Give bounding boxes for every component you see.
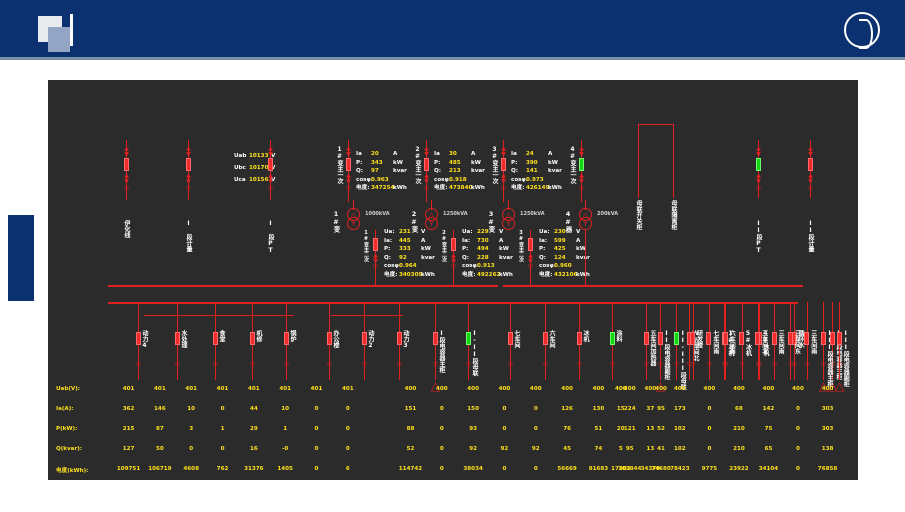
table-row-label-4: 电度(kWh): — [56, 466, 88, 474]
tf-sec-meas-1-ia: Ia:730A — [462, 237, 513, 246]
sidebar-tab-platform-page[interactable] — [8, 215, 34, 301]
lv-feeder-drop-b-0 — [660, 320, 661, 380]
lv-busbar-I — [108, 285, 498, 287]
lv-riser-b-3 — [709, 302, 710, 320]
lv-feeder-breaker-a-12[interactable] — [577, 332, 582, 345]
hv-feeder-meas-2-p: P:390kW — [511, 159, 562, 168]
table-cell-g1-r1-c4: 0 — [523, 406, 549, 412]
table-cell-g2-r1-c4: 68 — [726, 406, 752, 412]
table-cell-g2-r0-c0: 400 — [608, 386, 634, 392]
table-cell-g0-r1-c5: 10 — [272, 406, 298, 412]
lv-feeder-drop-b-6 — [758, 320, 759, 380]
hv-feeder-meas-2-ia: Ia24A — [511, 150, 562, 159]
lv-busbar-main — [108, 302, 798, 304]
table-cell-g0-r4-c2: 4608 — [178, 466, 204, 472]
lv-feeder-breaker-b-3[interactable] — [706, 332, 711, 345]
table-cell-g0-r0-c3: 401 — [210, 386, 236, 392]
table-cell-g1-r2-c1: 0 — [429, 426, 455, 432]
table-cell-g2-r4-c5: 34104 — [755, 466, 781, 472]
lv-feeder-drop-a-12 — [579, 320, 580, 380]
lv-riser-b-10 — [823, 302, 824, 320]
isolator-icon[interactable]: ▲▼ — [422, 173, 431, 184]
transformer-tag-2: 3#变 — [486, 210, 496, 233]
lv-feeder-drop-b-4 — [725, 320, 726, 380]
lv-feeder-label-b-6: 三车间北 — [761, 330, 767, 354]
ct-icon-b-3: ▽ — [705, 362, 714, 369]
isolator-icon[interactable]: ▲▼ — [344, 173, 353, 184]
tf-sec-name-2: 3#变主二次 — [518, 230, 523, 262]
ct-icon-b-8: ▽ — [786, 362, 795, 369]
lv-feeder-breaker-a-10[interactable] — [508, 332, 513, 345]
lv-feeder-drop-a-9 — [468, 320, 469, 380]
hv-feeder-breaker-3[interactable] — [579, 158, 584, 171]
table-cell-g2-r3-c1: 13 — [637, 446, 663, 452]
table-cell-g0-r2-c2: 3 — [178, 426, 204, 432]
bus-tie-link — [638, 124, 674, 125]
isolator-icon[interactable]: ▲▼ — [499, 146, 508, 157]
lv-feeder-drop-a-5 — [329, 320, 330, 380]
ct-icon-a-6: ▽ — [360, 362, 369, 369]
hv-feeder-meas-2: Ia24AP:390kWQ:141kvarcosφ:0.973电度:426149… — [511, 150, 562, 193]
tf-sec-meas-1-cos: cosφ:0.913 — [462, 262, 513, 271]
isolator-icon[interactable]: ▲▼ — [266, 173, 275, 184]
lv-feeder-drop-b-7 — [774, 320, 775, 380]
lv-feeder-label-a-14: 五车间加热器 — [649, 330, 655, 366]
table-cell-g0-r1-c4: 44 — [241, 406, 267, 412]
table-cell-g0-r4-c3: 762 — [210, 466, 236, 472]
table-cell-g2-r2-c2: 102 — [667, 426, 693, 432]
lv-riser-a-17 — [759, 302, 760, 320]
isolator-icon[interactable]: ▲▼ — [344, 146, 353, 157]
hv-breaker-1[interactable] — [186, 158, 191, 171]
lv-feeder-drop-b-2 — [693, 320, 694, 380]
ground-icon: ▽ — [266, 186, 275, 193]
tf-sec-breaker-0[interactable] — [373, 238, 378, 251]
table-cell-g2-r3-c5: 65 — [755, 446, 781, 452]
tf-sec-breaker-1[interactable] — [451, 238, 456, 251]
lv-feeder-drop-b-10 — [823, 320, 824, 380]
table-cell-g0-r1-c7: 0 — [335, 406, 361, 412]
table-cell-g2-r4-c6: 0 — [785, 466, 811, 472]
lv-riser-a-19 — [832, 302, 833, 320]
ground-icon: ▽ — [122, 186, 131, 193]
table-cell-g1-r4-c5: 56669 — [554, 466, 580, 472]
hv-feeder-breaker-2[interactable] — [501, 158, 506, 171]
table-cell-g2-r1-c7: 303 — [815, 406, 841, 412]
hv-feeder-label-2: 3#变主一次 — [491, 146, 497, 184]
lv-feeder-label-a-12: 冰机 — [582, 330, 588, 342]
table-cell-g2-r3-c2: 102 — [667, 446, 693, 452]
table-cell-g0-r0-c5: 401 — [272, 386, 298, 392]
ct-icon-a-11: ▽ — [541, 362, 550, 369]
table-cell-g2-r0-c3: 400 — [696, 386, 722, 392]
ct-icon-a-7: ▽ — [395, 362, 404, 369]
table-cell-g2-r0-c5: 400 — [755, 386, 781, 392]
transformer-tag-3: 4#器 — [563, 210, 573, 233]
transformer-winding-lv-0: Y — [347, 217, 360, 230]
hv-feeder-meas-1-q: Q:213kvar — [434, 167, 485, 176]
table-cell-g1-r4-c2: 38034 — [460, 466, 486, 472]
table-cell-g1-r2-c3: 0 — [491, 426, 517, 432]
transformer-rating-3: 200kVA — [597, 211, 618, 217]
lv-riser-a-11 — [545, 302, 546, 320]
lv-feeder-label-b-4: 六车间南 — [728, 330, 734, 354]
ground-icon: ▽ — [371, 264, 380, 271]
lv-feeder-label-a-4: 锅炉 — [289, 330, 295, 342]
transformer-lead-1 — [431, 200, 432, 210]
transformer-tag-1: 2#变 — [409, 210, 419, 233]
lv-feeder-breaker-a-5[interactable] — [327, 332, 332, 345]
lv-riser-a-1 — [177, 302, 178, 320]
lv-feeder-label-a-7: 动力3 — [402, 330, 408, 349]
hv-feeder-meas-2-cos: cosφ:0.973 — [511, 176, 562, 185]
lv-feeder-drop-a-7 — [399, 320, 400, 380]
hv-cabinet-right-2: II段PT — [755, 220, 761, 254]
lv-riser-a-12 — [579, 302, 580, 320]
lv-feeder-drop-a-4 — [286, 320, 287, 380]
bus-tie-v1 — [638, 124, 639, 141]
table-cell-g1-r1-c3: 0 — [491, 406, 517, 412]
table-cell-g2-r2-c5: 75 — [755, 426, 781, 432]
hv-right-breaker-3[interactable] — [808, 158, 813, 171]
table-cell-g1-r1-c2: 150 — [460, 406, 486, 412]
table-cell-g0-r4-c4: 31376 — [241, 466, 267, 472]
table-cell-g1-r2-c4: 0 — [523, 426, 549, 432]
lv-feeder-label-b-5: 5#冰机 — [745, 330, 751, 356]
table-cell-g1-r1-c5: 126 — [554, 406, 580, 412]
hv-cabinet-right-3: II段计量 — [807, 220, 813, 252]
table-cell-g1-r3-c3: 92 — [491, 446, 517, 452]
hv-breaker-0[interactable] — [124, 158, 129, 171]
table-cell-g1-r0-c0: 400 — [397, 386, 423, 392]
hv-feeder-meas-0-电度: 电度:347254kWh — [356, 184, 407, 193]
table-cell-g0-r1-c1: 146 — [147, 406, 173, 412]
table-cell-g0-r2-c0: 215 — [116, 426, 142, 432]
hv-feeder-meas-2-电度: 电度:426149kWh — [511, 184, 562, 193]
lv-feeder-label-b-0: II段电容器副柜 — [663, 330, 669, 380]
tf-sec-meas-1: Ua:229VIa:730AP:494kWQ:228kvarcosφ:0.913… — [462, 228, 513, 279]
table-cell-g2-r2-c4: 210 — [726, 426, 752, 432]
table-cell-g0-r3-c3: 0 — [210, 446, 236, 452]
lv-feeder-breaker-a-4[interactable] — [284, 332, 289, 345]
hv-feeder-breaker-1[interactable] — [424, 158, 429, 171]
lv-feeder-breaker-a-6[interactable] — [362, 332, 367, 345]
isolator-icon[interactable]: ▲▼ — [122, 146, 131, 157]
table-cell-g1-r4-c1: 0 — [429, 466, 455, 472]
lv-riser-b-6 — [758, 302, 759, 320]
isolator-icon[interactable]: ▲▼ — [499, 173, 508, 184]
lv-feeder-drop-a-6 — [364, 320, 365, 380]
transformer-rating-2: 1250kVA — [520, 211, 545, 217]
table-cell-g2-r1-c2: 173 — [667, 406, 693, 412]
lv-feeder-label-b-7: 三车间南 — [777, 330, 783, 354]
lv-feeder-drop-b-5 — [742, 320, 743, 380]
table-row-label-2: P(kW): — [56, 426, 77, 432]
table-cell-g0-r3-c0: 127 — [116, 446, 142, 452]
lv-feeder-breaker-a-3[interactable] — [250, 332, 255, 345]
lv-feeder-label-a-8: I段电容器主柜 — [438, 330, 444, 373]
lv-feeder-drop-a-14 — [646, 320, 647, 380]
table-cell-g1-r4-c0: 114742 — [397, 466, 423, 472]
isolator-icon[interactable]: ▲▼ — [806, 173, 815, 184]
hv-right-breaker-2[interactable] — [756, 158, 761, 171]
lv-feeder-drop-b-3 — [709, 320, 710, 380]
ct-icon-a-1: ▽ — [173, 362, 182, 369]
lv-feeder-drop-a-8 — [435, 320, 436, 380]
table-cell-g1-r1-c0: 151 — [397, 406, 423, 412]
table-cell-g1-r0-c4: 400 — [523, 386, 549, 392]
table-cell-g1-r0-c3: 400 — [491, 386, 517, 392]
lv-feeder-breaker-a-8[interactable] — [433, 332, 438, 345]
bus-tie-v2 — [673, 124, 674, 141]
lv-riser-a-0 — [138, 302, 139, 320]
hv-feeder-meas-0-cos: cosφ:0.963 — [356, 176, 407, 185]
hv-cabinet-0: 伊化线 — [123, 220, 129, 238]
transformer-lead-3 — [585, 200, 586, 210]
brand-logo — [844, 10, 887, 50]
lv-feeder-label-b-2: 研发楼 — [696, 330, 702, 348]
table-cell-g2-r0-c1: 400 — [637, 386, 663, 392]
lv-feeder-label-a-5: 办公楼 — [332, 330, 338, 348]
table-cell-g0-r1-c0: 362 — [116, 406, 142, 412]
hv-feeder-meas-1-电度: 电度:473840kWh — [434, 184, 485, 193]
lv-feeder-label-b-8: 三车间东 — [793, 330, 799, 354]
table-cell-g2-r1-c0: 15 — [608, 406, 634, 412]
table-cell-g2-r1-c5: 142 — [755, 406, 781, 412]
hv-feeder-meas-2-q: Q:141kvar — [511, 167, 562, 176]
hv-feeder-meas-0: Ia20AP:343kWQ:97kvarcosφ:0.963电度:347254k… — [356, 150, 407, 193]
transformer-tag-0: 1#变 — [331, 210, 341, 233]
ground-icon: ▽ — [577, 186, 586, 193]
table-cell-g0-r4-c6: 0 — [304, 466, 330, 472]
table-cell-g2-r4-c0: 17303 — [608, 466, 634, 472]
isolator-icon[interactable]: ▲▼ — [184, 173, 193, 184]
lv-riser-b-4 — [725, 302, 726, 320]
lv-feeder-breaker-a-2[interactable] — [213, 332, 218, 345]
hv-feeder-breaker-0[interactable] — [346, 158, 351, 171]
lv-feeder-label-a-13: 涂料 — [615, 330, 621, 342]
lv-feeder-label-a-11: 六车间 — [548, 330, 554, 348]
hv-feeder-meas-0-p: P:343kW — [356, 159, 407, 168]
lv-riser-a-4 — [286, 302, 287, 320]
tf-to-lvbus-2 — [530, 272, 531, 286]
lv-feeder-breaker-a-0[interactable] — [136, 332, 141, 345]
lv-riser-a-8 — [435, 302, 436, 320]
table-cell-g0-r0-c2: 401 — [178, 386, 204, 392]
table-cell-g2-r2-c0: 20 — [608, 426, 634, 432]
table-cell-g0-r0-c0: 401 — [116, 386, 142, 392]
table-cell-g2-r0-c2: 400 — [667, 386, 693, 392]
lv-feeder-label-a-1: 水处理 — [180, 330, 186, 348]
hv-cabinet-2: I 段PT — [267, 220, 273, 254]
table-row-label-0: Uab(V): — [56, 386, 80, 392]
table-cell-g0-r2-c3: 1 — [210, 426, 236, 432]
table-cell-g2-r2-c7: 303 — [815, 426, 841, 432]
lv-feeder-breaker-b-7[interactable] — [772, 332, 777, 345]
table-cell-g0-r3-c4: 16 — [241, 446, 267, 452]
lv-feeder-breaker-a-7[interactable] — [397, 332, 402, 345]
tf-sec-meas-0-cos: cosφ:0.964 — [384, 262, 435, 271]
tf-sec-name-1: 2#变主二次 — [441, 230, 446, 262]
tf-to-lvbus-1 — [453, 272, 454, 286]
table-cell-g2-r3-c4: 210 — [726, 446, 752, 452]
hv-cabinet-right-0: 母联开关柜 — [635, 200, 641, 230]
isolator-icon[interactable]: ▲▼ — [266, 146, 275, 157]
ground-icon: ▽ — [526, 264, 535, 271]
table-cell-g1-r2-c2: 93 — [460, 426, 486, 432]
ct-icon-a-13: ▽ — [608, 362, 617, 369]
table-cell-g0-r3-c2: 0 — [178, 446, 204, 452]
tf-sec-meas-1-p: P:494kW — [462, 245, 513, 254]
lv-feeder-drop-a-11 — [545, 320, 546, 380]
tf-sec-meas-2-p: P:425kW — [539, 245, 590, 254]
transformer-rating-1: 1250kVA — [443, 211, 468, 217]
lv-feeder-breaker-b-1[interactable] — [674, 332, 679, 345]
lv-riser-b-0 — [660, 302, 661, 320]
lv-feeder-breaker-b-5[interactable] — [739, 332, 744, 345]
table-row-label-1: Ia(A): — [56, 406, 74, 412]
table-cell-g0-r4-c7: 6 — [335, 466, 361, 472]
lv-feeder-label-b-9: 三车间南 — [810, 330, 816, 354]
table-cell-g0-r3-c5: -0 — [272, 446, 298, 452]
ct-icon-b-2: ▽ — [689, 362, 698, 369]
isolator-icon[interactable]: ▲▼ — [806, 146, 815, 157]
table-cell-g0-r2-c5: 1 — [272, 426, 298, 432]
lv-feeder-label-a-3: 机修 — [255, 330, 261, 342]
isolator-icon[interactable]: ▲▼ — [577, 146, 586, 157]
lv-riser-b-11 — [839, 302, 840, 320]
transformer-lead-2 — [508, 200, 509, 210]
table-cell-g0-r2-c1: 87 — [147, 426, 173, 432]
lv-feeder-breaker-b-10[interactable] — [821, 332, 826, 345]
lv-riser-b-8 — [790, 302, 791, 320]
isolator-icon[interactable]: ▲▼ — [754, 146, 763, 157]
hv-right-drop-1 — [673, 140, 674, 198]
ground-icon: ▽ — [806, 186, 815, 193]
lv-feeder-breaker-b-11[interactable] — [837, 332, 842, 345]
lv-feeder-breaker-a-1[interactable] — [175, 332, 180, 345]
table-cell-g0-r1-c3: 0 — [210, 406, 236, 412]
tf-sec-meas-2-电度: 电度:432106kWh — [539, 271, 590, 280]
lv-feeder-breaker-b-8[interactable] — [788, 332, 793, 345]
table-cell-g1-r4-c4: 0 — [523, 466, 549, 472]
tf-sec-breaker-2[interactable] — [528, 238, 533, 251]
table-cell-g0-r1-c6: 0 — [304, 406, 330, 412]
lv-riser-a-6 — [364, 302, 365, 320]
ground-icon: ▽ — [499, 186, 508, 193]
tf-sec-name-0: 1#变主二次 — [363, 230, 368, 262]
ground-icon: ▽ — [449, 264, 458, 271]
ct-icon-a-4: ▽ — [282, 362, 291, 369]
ct-icon-b-9: ▽ — [803, 362, 812, 369]
table-cell-g2-r4-c4: 23922 — [726, 466, 752, 472]
hv-feeder-meas-1-ia: Ia30A — [434, 150, 485, 159]
isolator-icon[interactable]: ▲▼ — [754, 173, 763, 184]
hv-cabinet-1: I 段计量 — [185, 220, 191, 252]
transformer-winding-lv-2: Y — [502, 217, 515, 230]
lv-feeder-breaker-b-0[interactable] — [658, 332, 663, 345]
lv-riser-a-5 — [329, 302, 330, 320]
table-cell-g2-r1-c3: 0 — [696, 406, 722, 412]
table-cell-g1-r1-c1: 0 — [429, 406, 455, 412]
table-cell-g1-r3-c0: 52 — [397, 446, 423, 452]
hv-breaker-2[interactable] — [268, 158, 273, 171]
table-cell-g0-r3-c1: 50 — [147, 446, 173, 452]
isolator-icon[interactable]: ▲▼ — [422, 146, 431, 157]
lv-feeder-label-a-10: 七车间 — [513, 330, 519, 348]
table-cell-g1-r3-c2: 92 — [460, 446, 486, 452]
lv-branch-2 — [331, 315, 403, 316]
lv-feeder-breaker-a-9[interactable] — [466, 332, 471, 345]
lv-riser-b-2 — [693, 302, 694, 320]
table-cell-g2-r0-c4: 400 — [726, 386, 752, 392]
lv-feeder-label-a-6: 动力2 — [367, 330, 373, 349]
table-cell-g1-r0-c1: 400 — [429, 386, 455, 392]
table-cell-g0-r1-c2: 10 — [178, 406, 204, 412]
tf-sec-meas-1-电度: 电度:492262kWh — [462, 271, 513, 280]
ct-icon-a-3: ▽ — [248, 362, 257, 369]
lv-feeder-label-a-0: 动力4 — [141, 330, 147, 349]
isolator-icon[interactable]: ▲▼ — [577, 173, 586, 184]
lv-riser-a-14 — [646, 302, 647, 320]
tf-sec-meas-2-cos: cosφ:0.960 — [539, 262, 590, 271]
lv-feeder-breaker-b-4[interactable] — [723, 332, 728, 345]
lv-feeder-breaker-b-9[interactable] — [804, 332, 809, 345]
lv-riser-a-7 — [399, 302, 400, 320]
lv-branch-1 — [144, 315, 294, 316]
lv-feeder-breaker-a-11[interactable] — [543, 332, 548, 345]
hv-feeder-meas-1: Ia30AP:485kWQ:213kvarcosφ:0.918电度:473840… — [434, 150, 485, 193]
table-cell-g1-r4-c3: 0 — [491, 466, 517, 472]
lv-feeder-drop-b-8 — [790, 320, 791, 380]
lv-riser-b-9 — [807, 302, 808, 320]
table-cell-g0-r2-c4: 29 — [241, 426, 267, 432]
ct-icon-a-0: ▽ — [134, 362, 143, 369]
company-mark-icon — [844, 12, 880, 48]
lv-feeder-drop-a-1 — [177, 320, 178, 380]
lv-feeder-drop-a-0 — [138, 320, 139, 380]
lv-riser-a-9 — [468, 302, 469, 320]
isolator-icon[interactable]: ▲▼ — [184, 146, 193, 157]
tf-sec-meas-0-电度: 电度:340309kWh — [384, 271, 435, 280]
table-cell-g1-r3-c5: 45 — [554, 446, 580, 452]
ground-icon: ▽ — [422, 186, 431, 193]
hv-feeder-label-1: 2#变主一次 — [414, 146, 420, 184]
tf-sec-meas-0-ia: Ia:445A — [384, 237, 435, 246]
ct-icon-b-6: ▽ — [754, 362, 763, 369]
tf-to-lvbus-3 — [585, 272, 586, 286]
logo-square2-icon — [48, 27, 70, 52]
lv-feeder-breaker-a-13[interactable] — [610, 332, 615, 345]
lv-feeder-drop-b-11 — [839, 320, 840, 380]
hv-feeder-meas-1-cos: cosφ:0.918 — [434, 176, 485, 185]
table-cell-g2-r4-c2: 78423 — [667, 466, 693, 472]
lv-feeder-breaker-b-6[interactable] — [755, 332, 760, 345]
lv-feeder-breaker-a-14[interactable] — [644, 332, 649, 345]
table-cell-g2-r3-c0: 5 — [608, 446, 634, 452]
table-cell-g2-r1-c6: 0 — [785, 406, 811, 412]
table-cell-g1-r2-c0: 88 — [397, 426, 423, 432]
ct-icon-a-2: ▽ — [211, 362, 220, 369]
lv-feeder-breaker-b-2[interactable] — [690, 332, 695, 345]
table-cell-g0-r0-c6: 401 — [304, 386, 330, 392]
tf-sec-drop-3 — [585, 230, 586, 272]
table-cell-g2-r0-c7: 400 — [815, 386, 841, 392]
lv-feeder-drop-a-13 — [612, 320, 613, 380]
lv-riser-b-1 — [676, 302, 677, 320]
isolator-icon[interactable]: ▲▼ — [122, 173, 131, 184]
transformer-lead-0 — [353, 200, 354, 210]
